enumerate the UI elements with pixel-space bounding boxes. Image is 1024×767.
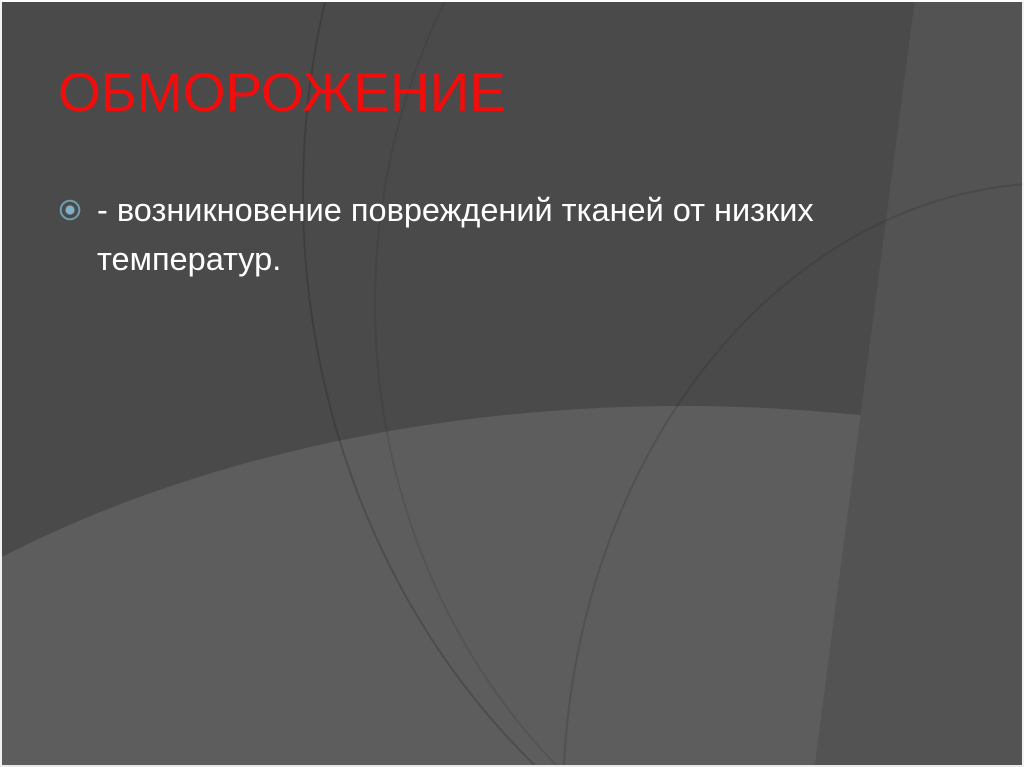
list-item: - возникновение повреждений тканей от ни… xyxy=(58,186,938,284)
slide-content: ОБМОРОЖЕНИЕ - возникновение повреждений … xyxy=(2,2,1022,765)
slide-body-list: - возникновение повреждений тканей от ни… xyxy=(58,186,938,284)
target-bullet-icon xyxy=(58,198,82,222)
bullet-text: - возникновение повреждений тканей от ни… xyxy=(97,186,938,284)
presentation-slide: ОБМОРОЖЕНИЕ - возникновение повреждений … xyxy=(0,0,1024,767)
slide-title: ОБМОРОЖЕНИЕ xyxy=(58,61,506,123)
